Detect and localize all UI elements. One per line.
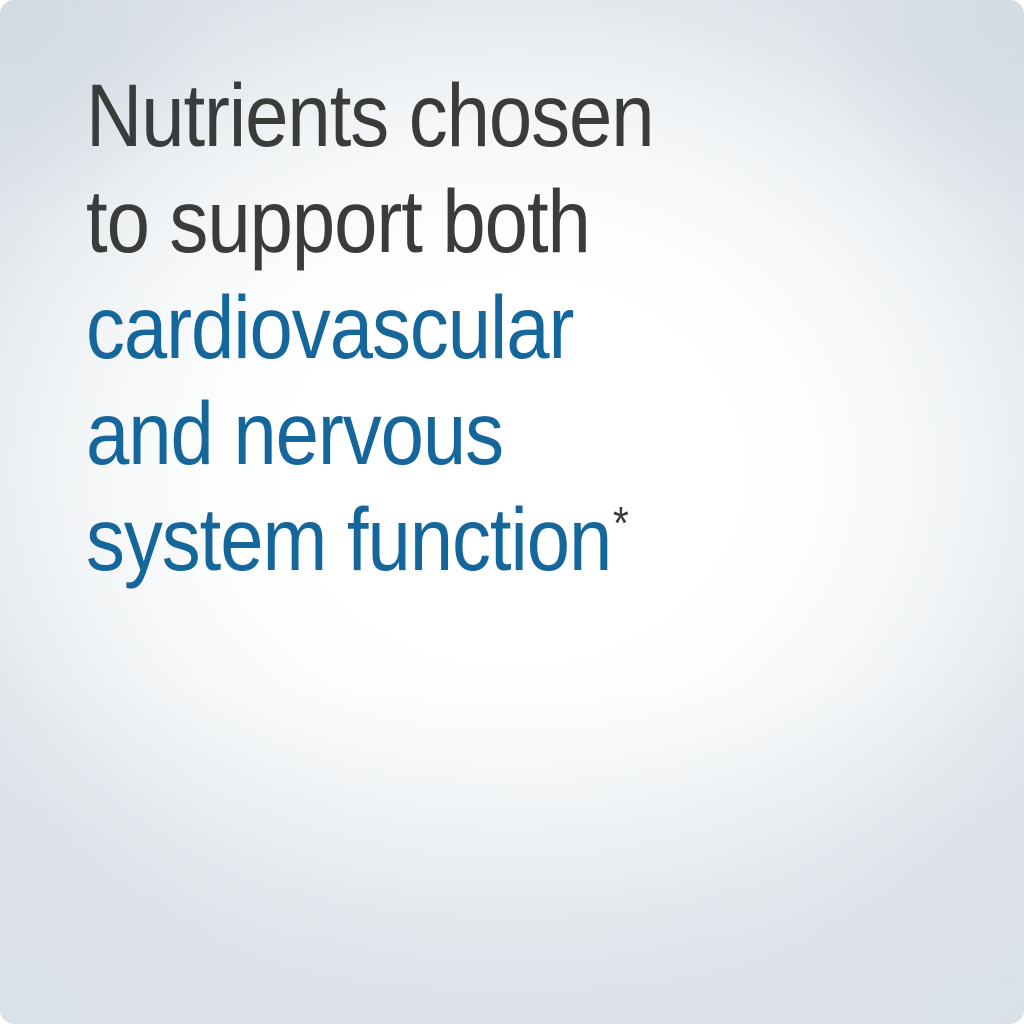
headline-text-block: Nutrients chosen to support both cardiov… bbox=[86, 62, 839, 592]
headline-line-2: to support both bbox=[86, 168, 839, 274]
headline-line-5-text: system function bbox=[86, 489, 611, 589]
marketing-banner: Nutrients chosen to support both cardiov… bbox=[0, 0, 1024, 1024]
footnote-asterisk: * bbox=[613, 497, 629, 549]
headline-line-4-highlight: and nervous bbox=[86, 380, 839, 486]
background-bottom-wash bbox=[0, 684, 1024, 1024]
headline-line-5-highlight: system function* bbox=[86, 486, 839, 592]
headline-line-3-highlight: cardiovascular bbox=[86, 274, 839, 380]
headline-line-1: Nutrients chosen bbox=[86, 62, 839, 168]
